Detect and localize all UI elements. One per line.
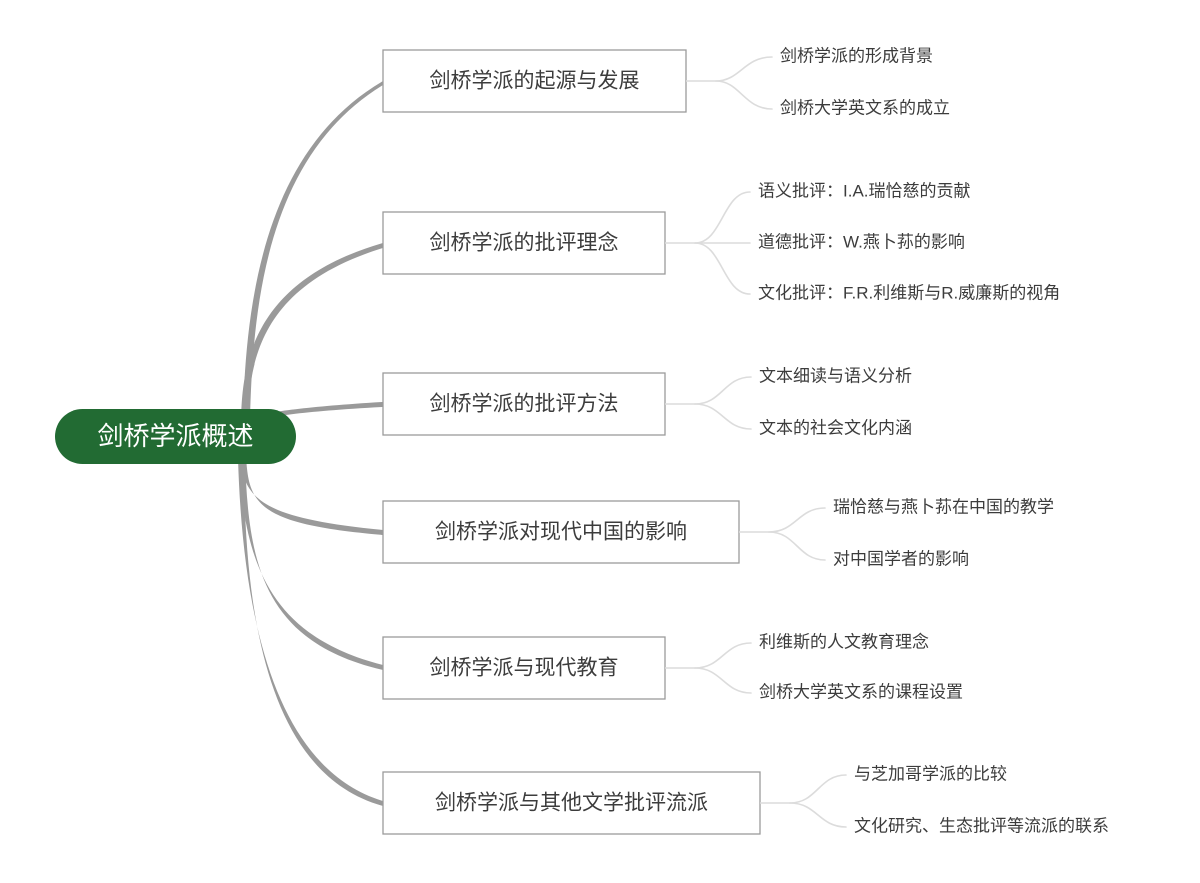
leaf-link-5-2 xyxy=(695,668,751,693)
leaf-label-3-1: 文本细读与语义分析 xyxy=(759,366,912,385)
branch-group-3: 剑桥学派的批评方法 文本细读与语义分析 文本的社会文化内涵 xyxy=(383,366,912,437)
leaf-link-5-1 xyxy=(695,643,751,668)
leaf-label-6-2: 文化研究、生态批评等流派的联系 xyxy=(854,816,1109,835)
branch-6-leaf-links xyxy=(760,775,846,827)
leaf-link-3-1 xyxy=(695,377,751,404)
leaf-link-6-2 xyxy=(790,803,846,827)
leaf-link-3-2 xyxy=(695,404,751,429)
leaf-label-3-2: 文本的社会文化内涵 xyxy=(759,418,912,437)
branch-label-3: 剑桥学派的批评方法 xyxy=(430,393,619,416)
mindmap-svg: 剑桥学派概述 剑桥学派的起源与发展 剑桥学派的形成背景 剑桥大学英文系的成立 剑… xyxy=(0,0,1200,883)
leaf-link-6-1 xyxy=(790,775,846,803)
leaf-label-5-2: 剑桥大学英文系的课程设置 xyxy=(759,682,963,701)
branch-group-6: 剑桥学派与其他文学批评流派 与芝加哥学派的比较 文化研究、生态批评等流派的联系 xyxy=(383,764,1109,835)
leaf-label-2-2: 道德批评：W.燕卜荪的影响 xyxy=(758,232,965,251)
leaf-link-2-3 xyxy=(695,243,750,294)
branch-group-2: 剑桥学派的批评理念 语义批评：I.A.瑞恰慈的贡献 道德批评：W.燕卜荪的影响 … xyxy=(383,181,1060,302)
trunk-connector-4 xyxy=(240,452,383,535)
branch-2-leaf-links xyxy=(665,192,750,294)
leaf-link-1-2 xyxy=(716,81,772,109)
branch-label-1: 剑桥学派的起源与发展 xyxy=(430,70,640,93)
branch-1-leaf-links xyxy=(686,57,772,109)
mindmap-canvas: 剑桥学派概述 剑桥学派的起源与发展 剑桥学派的形成背景 剑桥大学英文系的成立 剑… xyxy=(0,0,1200,883)
branch-label-2: 剑桥学派的批评理念 xyxy=(430,232,619,255)
leaf-link-4-2 xyxy=(769,532,825,560)
branch-label-5: 剑桥学派与现代教育 xyxy=(430,657,619,680)
leaf-label-2-1: 语义批评：I.A.瑞恰慈的贡献 xyxy=(758,181,971,200)
root-node[interactable]: 剑桥学派概述 xyxy=(55,409,296,464)
leaf-label-5-1: 利维斯的人文教育理念 xyxy=(759,631,929,651)
branch-group-4: 剑桥学派对现代中国的影响 瑞恰慈与燕卜荪在中国的教学 对中国学者的影响 xyxy=(383,497,1054,568)
branch-label-6: 剑桥学派与其他文学批评流派 xyxy=(435,792,708,815)
branch-node-5[interactable]: 剑桥学派与现代教育 xyxy=(383,637,665,699)
leaf-link-2-1 xyxy=(695,192,750,243)
leaf-label-1-2: 剑桥大学英文系的成立 xyxy=(780,98,950,117)
trunk-connector-5 xyxy=(239,455,383,670)
leaf-label-4-2: 对中国学者的影响 xyxy=(833,549,969,568)
branch-4-leaf-links xyxy=(739,508,825,560)
branch-node-2[interactable]: 剑桥学派的批评理念 xyxy=(383,212,665,274)
trunk-connector-6 xyxy=(238,458,383,806)
branch-group-1: 剑桥学派的起源与发展 剑桥学派的形成背景 剑桥大学英文系的成立 xyxy=(383,46,950,117)
branch-label-4: 剑桥学派对现代中国的影响 xyxy=(435,521,687,544)
trunk-connector-1 xyxy=(243,81,383,418)
branch-node-6[interactable]: 剑桥学派与其他文学批评流派 xyxy=(383,772,760,834)
root-node-label: 剑桥学派概述 xyxy=(97,421,253,451)
branch-node-4[interactable]: 剑桥学派对现代中国的影响 xyxy=(383,501,739,563)
branch-group-5: 剑桥学派与现代教育 利维斯的人文教育理念 剑桥大学英文系的课程设置 xyxy=(383,631,963,701)
leaf-label-4-1: 瑞恰慈与燕卜荪在中国的教学 xyxy=(833,497,1054,516)
branch-5-leaf-links xyxy=(665,643,751,693)
branch-node-3[interactable]: 剑桥学派的批评方法 xyxy=(383,373,665,435)
leaf-link-4-1 xyxy=(769,508,825,532)
leaf-link-1-1 xyxy=(716,57,772,81)
branch-node-1[interactable]: 剑桥学派的起源与发展 xyxy=(383,50,686,112)
branch-3-leaf-links xyxy=(665,377,751,429)
leaf-label-2-3: 文化批评：F.R.利维斯与R.威廉斯的视角 xyxy=(758,283,1060,302)
leaf-label-6-1: 与芝加哥学派的比较 xyxy=(854,764,1007,783)
leaf-label-1-1: 剑桥学派的形成背景 xyxy=(780,46,933,65)
